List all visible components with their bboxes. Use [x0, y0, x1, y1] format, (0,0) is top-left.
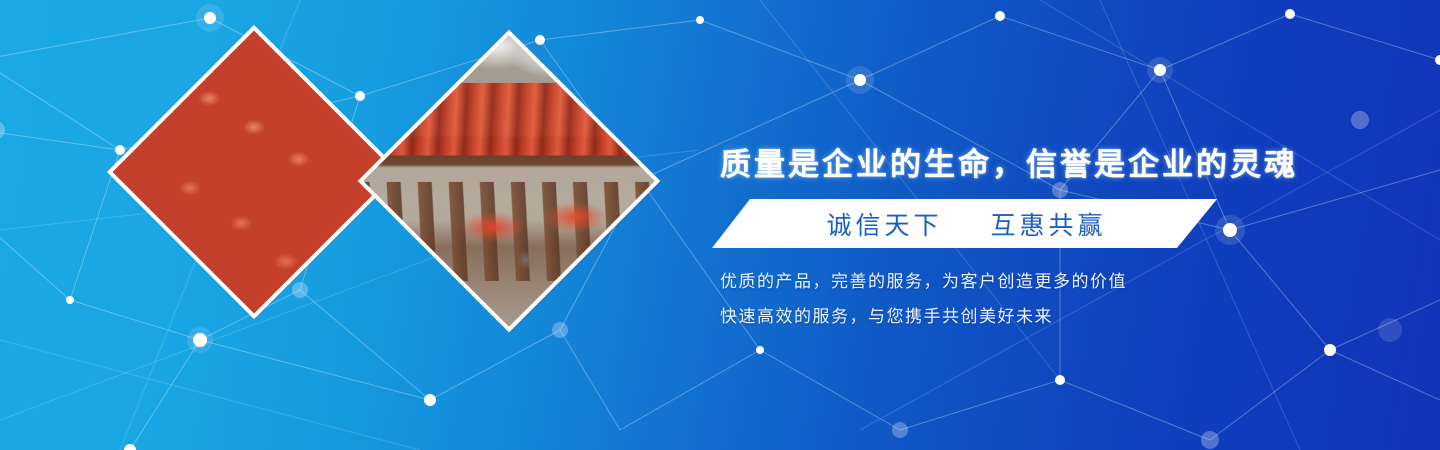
banner-subline-2: 快速高效的服务，与您携手共创美好未来 — [720, 302, 1053, 327]
slogan-ribbon-text: 诚信天下 互惠共赢 — [823, 206, 1107, 242]
promo-banner: 质量是企业的生命，信誉是企业的灵魂 诚信天下 互惠共赢 优质的产品，完善的服务，… — [0, 0, 1440, 450]
slogan-ribbon: 诚信天下 互惠共赢 — [712, 199, 1217, 248]
banner-headline: 质量是企业的生命，信誉是企业的灵魂 — [720, 139, 1298, 184]
banner-subline-1: 优质的产品，完善的服务，为客户创造更多的价值 — [720, 267, 1127, 292]
slogan-right: 互惠共赢 — [990, 212, 1106, 240]
slogan-left: 诚信天下 — [827, 212, 943, 240]
